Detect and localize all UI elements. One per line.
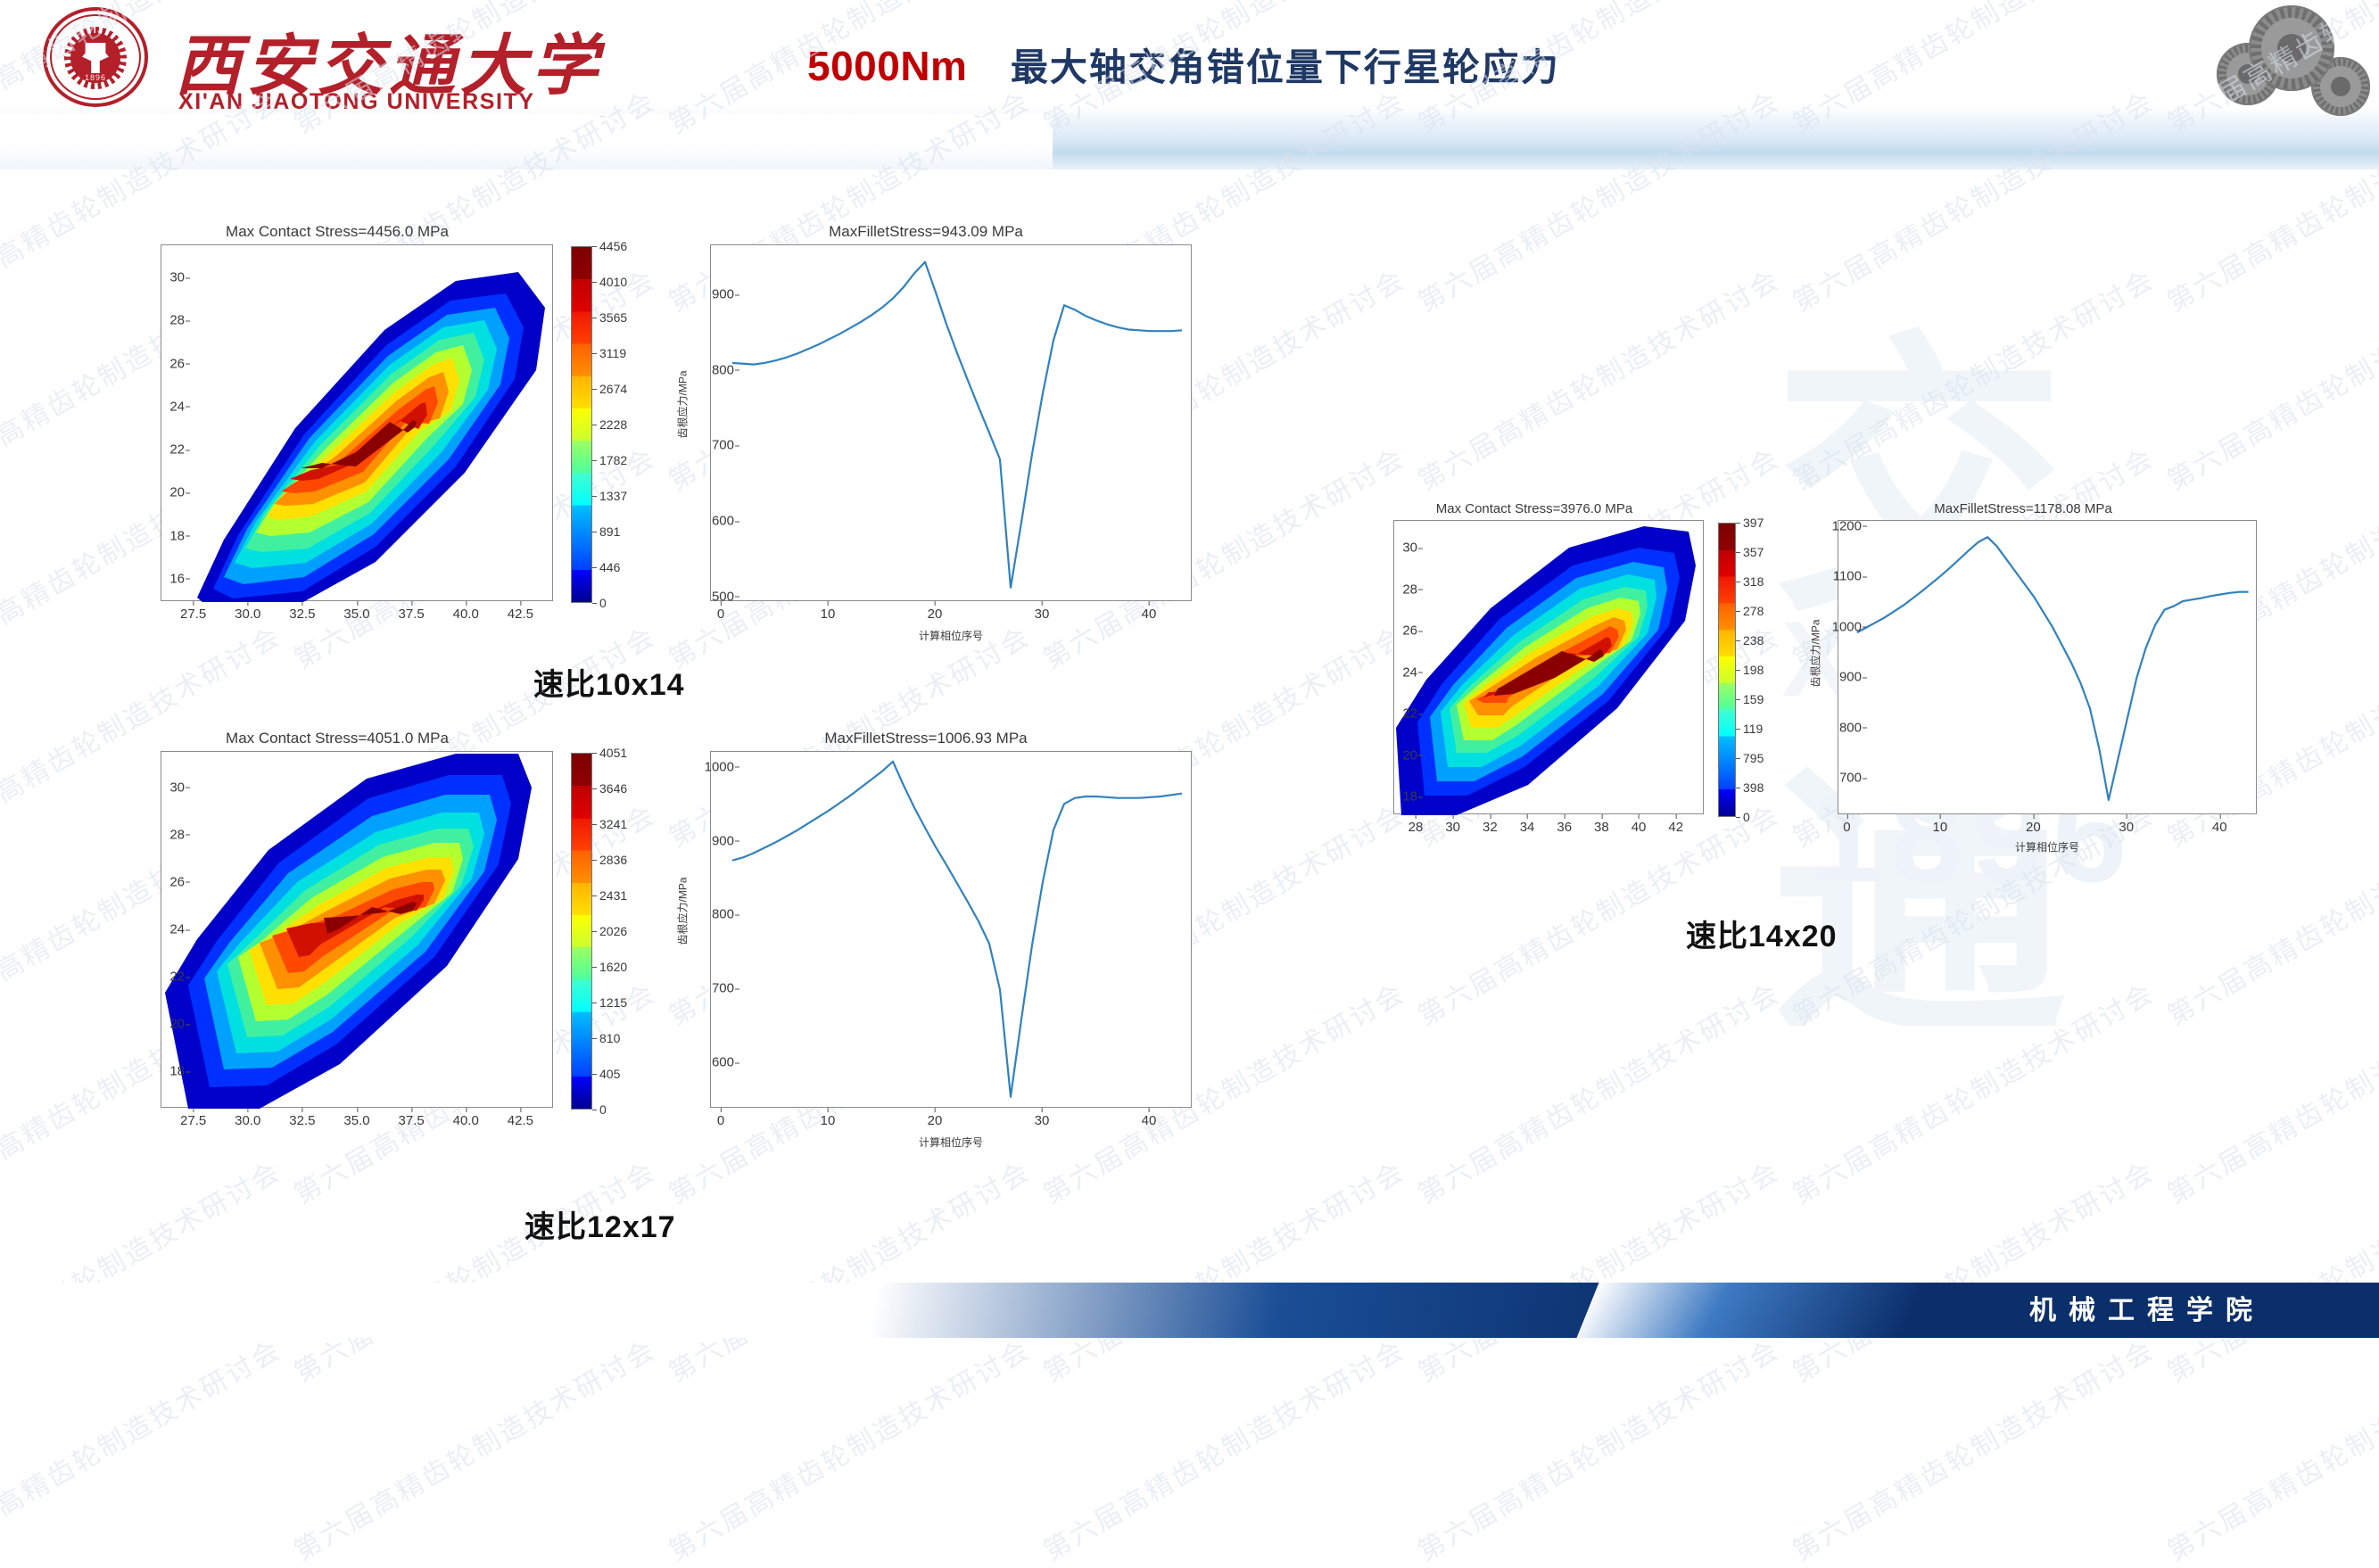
axis-tick-label: 42 bbox=[1668, 820, 1683, 835]
colorbar-tick-label: 238 bbox=[1743, 633, 1764, 648]
colorbar-tick-label: 2026 bbox=[599, 924, 627, 938]
watermark-text: 第六届高精齿轮制造技术研讨会 bbox=[2159, 258, 2379, 498]
contour-yticks-12x17: 18202224262830 bbox=[160, 752, 190, 1107]
axis-tick-label: 30 bbox=[1445, 820, 1460, 835]
axis-tick-label: 0 bbox=[717, 607, 724, 622]
colorbar-tick-label: 4456 bbox=[599, 239, 627, 253]
title-torque: 5000Nm bbox=[807, 43, 967, 89]
axis-tick-label: 30 bbox=[1035, 607, 1050, 622]
contour-colorbar-12x17: 405136463241283624312026162012158104050 bbox=[571, 753, 592, 1110]
colorbar-tick-label: 3565 bbox=[599, 310, 627, 325]
axis-tick-label: 37.5 bbox=[399, 607, 425, 622]
axis-tick-label: 40 bbox=[2212, 820, 2227, 835]
colorbar-tick-label: 1620 bbox=[599, 960, 627, 974]
fillet-ylabel-14x20: 齿根应力/MPa bbox=[1808, 600, 1823, 707]
axis-tick-label: 30 bbox=[169, 780, 185, 795]
colorbar-gradient-14x20 bbox=[1718, 523, 1736, 817]
axis-tick-label: 30.0 bbox=[235, 1113, 260, 1128]
fillet-xlabel-10x14: 计算相位序号 bbox=[710, 628, 1192, 643]
contour-yticks-10x14: 1618202224262830 bbox=[160, 245, 190, 600]
axis-tick-label: 700 bbox=[712, 438, 734, 453]
contour-plot-14x20: Max Contact Stress=3976.0 MPa bbox=[1347, 501, 1722, 838]
axis-tick-label: 10 bbox=[821, 607, 836, 622]
fillet-plot-12x17: MaxFilletStress=1006.93 MPa 600700800900… bbox=[640, 730, 1211, 1148]
watermark-text: 第六届高精齿轮制造技术研讨会 bbox=[1409, 258, 1786, 498]
fillet-axes-10x14: 500600700800900 齿根应力/MPa bbox=[710, 244, 1192, 601]
fillet-yticks-14x20: 700800900100011001200 bbox=[1837, 521, 1867, 813]
colorbar-tick-label: 357 bbox=[1743, 545, 1764, 559]
axis-tick-label: 20 bbox=[2026, 820, 2041, 835]
axis-tick-label: 900 bbox=[712, 287, 734, 302]
watermark-text: 第六届高精齿轮制造技术研讨会 bbox=[2159, 971, 2379, 1211]
colorbar-tick-label: 0 bbox=[1743, 810, 1750, 824]
axis-tick-label: 32.5 bbox=[289, 1113, 315, 1128]
colorbar-tick-label: 2228 bbox=[599, 417, 627, 432]
axis-tick-label: 18 bbox=[169, 528, 185, 543]
axis-tick-label: 800 bbox=[1839, 720, 1862, 735]
colorbar-tick-label: 397 bbox=[1743, 516, 1764, 530]
colorbar-gradient-12x17 bbox=[571, 753, 592, 1110]
axis-tick-label: 900 bbox=[1839, 670, 1862, 685]
colorbar-tick-label: 1782 bbox=[599, 453, 627, 467]
colorbar-tick-label: 446 bbox=[599, 560, 620, 574]
contour-yticks-14x20: 18202224262830 bbox=[1392, 521, 1423, 813]
colorbar-tick-label: 159 bbox=[1743, 692, 1764, 706]
slide-header: 1896 西安交通大学 XI'AN JIAOTONG UNIVERSITY 50… bbox=[0, 0, 2379, 169]
watermark-text: 第六届高精齿轮制造技术研讨会 bbox=[1409, 1328, 1786, 1568]
axis-tick-label: 0 bbox=[1843, 820, 1850, 835]
fillet-yticks-10x14: 500600700800900 bbox=[709, 245, 739, 600]
colorbar-tick-label: 119 bbox=[1743, 722, 1763, 736]
axis-tick-label: 42.5 bbox=[508, 1113, 533, 1128]
axis-tick-label: 24 bbox=[169, 399, 185, 414]
axis-tick-label: 28 bbox=[1408, 820, 1424, 835]
watermark-text: 第六届高精齿轮制造技术研讨会 bbox=[0, 1328, 287, 1568]
axis-tick-label: 1000 bbox=[1832, 619, 1862, 634]
colorbar-tick-label: 3241 bbox=[599, 817, 627, 831]
colorbar-tick-label: 4051 bbox=[599, 746, 627, 760]
caption-10x14: 速比10x14 bbox=[533, 660, 685, 704]
axis-tick-label: 36 bbox=[1557, 820, 1572, 835]
colorbar-tick-label: 891 bbox=[599, 524, 620, 539]
footer-label: 机械工程学院 bbox=[2029, 1288, 2265, 1327]
axis-tick-label: 27.5 bbox=[180, 607, 206, 622]
fillet-yticks-12x17: 6007008009001000 bbox=[709, 752, 739, 1107]
watermark-text: 第六届高精齿轮制造技术研讨会 bbox=[1409, 971, 1786, 1211]
contour-plot-10x14: Max Contact Stress=4456.0 MPa bbox=[105, 223, 569, 626]
seal-year: 1896 bbox=[43, 73, 148, 82]
axis-tick-label: 35.0 bbox=[343, 607, 369, 622]
university-name-en: XI'AN JIAOTONG UNIVERSITY bbox=[178, 89, 535, 115]
contour-axes-10x14: 1618202224262830 bbox=[161, 244, 553, 601]
fillet-axes-14x20: 700800900100011001200 齿根应力/MPa bbox=[1838, 520, 2257, 814]
axis-tick-label: 26 bbox=[169, 356, 185, 371]
series-line bbox=[732, 762, 1182, 1097]
footer-bar bbox=[0, 1283, 2379, 1338]
axis-tick-label: 800 bbox=[712, 362, 734, 377]
footer-slash-accent bbox=[1576, 1283, 1920, 1338]
colorbar-tick-label: 4010 bbox=[599, 275, 627, 289]
watermark-text: 第六届高精齿轮制造技术研讨会 bbox=[2159, 1328, 2379, 1568]
colorbar-tick-label: 278 bbox=[1743, 604, 1764, 618]
axis-tick-label: 700 bbox=[1839, 771, 1862, 786]
contour-axes-12x17: 18202224262830 bbox=[161, 751, 553, 1108]
header-band bbox=[0, 114, 2379, 169]
axis-tick-label: 1100 bbox=[1833, 569, 1862, 584]
fillet-line-12x17 bbox=[711, 752, 1193, 1109]
axis-tick-label: 18 bbox=[169, 1064, 185, 1079]
axis-tick-label: 32.5 bbox=[289, 607, 315, 622]
colorbar-tick-label: 198 bbox=[1743, 663, 1764, 677]
axis-tick-label: 40 bbox=[1142, 607, 1157, 622]
contour-title-12x17: Max Contact Stress=4051.0 MPa bbox=[105, 730, 569, 747]
fillet-line-10x14 bbox=[711, 245, 1193, 602]
axis-tick-label: 32 bbox=[1483, 820, 1498, 835]
colorbar-tick-label: 405 bbox=[599, 1067, 620, 1081]
colorbar-tick-label: 0 bbox=[599, 1102, 607, 1117]
fillet-xlabel-14x20: 计算相位序号 bbox=[1838, 839, 2257, 854]
watermark-text: 第六届高精齿轮制造技术研讨会 bbox=[1035, 1328, 1411, 1568]
fillet-xlabel-12x17: 计算相位序号 bbox=[710, 1135, 1192, 1150]
axis-tick-label: 26 bbox=[1402, 623, 1417, 639]
axis-tick-label: 20 bbox=[169, 485, 185, 500]
fillet-plot-10x14: MaxFilletStress=943.09 MPa 5006007008009… bbox=[640, 223, 1211, 641]
axis-tick-label: 30 bbox=[1035, 1113, 1050, 1128]
fillet-ylabel-10x14: 齿根应力/MPa bbox=[675, 351, 690, 458]
axis-tick-label: 27.5 bbox=[180, 1113, 206, 1128]
axis-tick-label: 40.0 bbox=[453, 607, 479, 622]
axis-tick-label: 28 bbox=[169, 313, 185, 328]
axis-tick-label: 22 bbox=[169, 970, 185, 985]
axis-tick-label: 40.0 bbox=[453, 1113, 479, 1128]
axis-tick-label: 10 bbox=[1933, 820, 1948, 835]
axis-tick-label: 700 bbox=[712, 981, 734, 996]
colorbar-tick-label: 3646 bbox=[599, 781, 627, 796]
fillet-line-14x20 bbox=[1838, 521, 2258, 815]
axis-tick-label: 18 bbox=[1402, 789, 1417, 805]
axis-tick-label: 16 bbox=[169, 571, 185, 586]
axis-tick-label: 42.5 bbox=[508, 607, 533, 622]
axis-tick-label: 24 bbox=[1402, 664, 1417, 680]
contour-title-10x14: Max Contact Stress=4456.0 MPa bbox=[105, 223, 569, 241]
colorbar-tick-label: 810 bbox=[599, 1031, 620, 1045]
watermark-text: 第六届高精齿轮制造技术研讨会 bbox=[285, 1328, 662, 1568]
axis-tick-label: 34 bbox=[1520, 820, 1535, 835]
colorbar-tick-label: 0 bbox=[599, 596, 607, 610]
axis-tick-label: 35.0 bbox=[343, 1113, 369, 1128]
colorbar-tick-label: 318 bbox=[1743, 574, 1764, 589]
axis-tick-label: 600 bbox=[712, 1055, 734, 1070]
axis-tick-label: 1200 bbox=[1832, 518, 1862, 533]
contour-colorbar-10x14: 445640103565311926742228178213378914460 bbox=[571, 246, 592, 603]
colorbar-tick-label: 3119 bbox=[599, 346, 626, 360]
series-line bbox=[732, 262, 1182, 588]
title-main: 最大轴交角错位量下行星轮应力 bbox=[1011, 46, 1560, 88]
axis-tick-label: 30 bbox=[1402, 541, 1417, 556]
axis-tick-label: 30 bbox=[2119, 820, 2134, 835]
axis-tick-label: 37.5 bbox=[399, 1113, 425, 1128]
colorbar-tick-label: 2674 bbox=[599, 382, 627, 396]
series-line bbox=[1857, 537, 2249, 800]
axis-tick-label: 22 bbox=[169, 442, 185, 458]
axis-tick-label: 600 bbox=[712, 514, 734, 529]
axis-tick-label: 22 bbox=[1402, 706, 1417, 722]
axis-tick-label: 20 bbox=[169, 1017, 185, 1032]
axis-tick-label: 38 bbox=[1594, 820, 1609, 835]
colorbar-tick-label: 1337 bbox=[599, 489, 627, 503]
contour-xticks-10x14: 27.530.032.535.037.540.042.5 bbox=[161, 601, 553, 626]
axis-tick-label: 800 bbox=[712, 907, 734, 922]
contour-title-14x20: Max Contact Stress=3976.0 MPa bbox=[1347, 501, 1722, 516]
axis-tick-label: 1000 bbox=[705, 759, 734, 774]
contour-colorbar-14x20: 3973573182782381981591197953980 bbox=[1718, 523, 1736, 817]
slide-title: 5000Nm 最大轴交角错位量下行星轮应力 bbox=[807, 37, 1560, 92]
fillet-title-14x20: MaxFilletStress=1178.08 MPa bbox=[1773, 501, 2273, 516]
caption-12x17: 速比12x17 bbox=[525, 1202, 676, 1246]
fillet-ylabel-12x17: 齿根应力/MPa bbox=[675, 858, 690, 965]
colorbar-tick-label: 795 bbox=[1743, 751, 1764, 765]
axis-tick-label: 20 bbox=[928, 607, 943, 622]
axis-tick-label: 30 bbox=[169, 270, 185, 285]
axis-tick-label: 20 bbox=[1402, 747, 1417, 763]
axis-tick-label: 24 bbox=[169, 922, 185, 937]
watermark-text: 第六届高精齿轮制造技术研讨会 bbox=[660, 1328, 1037, 1568]
contour-xticks-12x17: 27.530.032.535.037.540.042.5 bbox=[161, 1108, 553, 1133]
contour-xticks-14x20: 2830323436384042 bbox=[1393, 814, 1704, 838]
caption-14x20: 速比14x20 bbox=[1686, 912, 1838, 955]
axis-tick-label: 30.0 bbox=[235, 607, 260, 622]
axis-tick-label: 26 bbox=[169, 874, 185, 889]
fillet-axes-12x17: 6007008009001000 齿根应力/MPa bbox=[710, 751, 1192, 1108]
fillet-plot-14x20: MaxFilletStress=1178.08 MPa 700800900100… bbox=[1773, 501, 2273, 853]
axis-tick-label: 28 bbox=[1402, 582, 1417, 597]
fillet-xticks-14x20: 010203040 bbox=[1838, 814, 2257, 838]
colorbar-gradient-10x14 bbox=[571, 246, 592, 603]
axis-tick-label: 0 bbox=[717, 1113, 724, 1128]
fillet-title-10x14: MaxFilletStress=943.09 MPa bbox=[640, 223, 1211, 241]
gears-decoration-icon bbox=[2222, 2, 2374, 111]
axis-tick-label: 10 bbox=[821, 1113, 836, 1128]
axis-tick-label: 28 bbox=[169, 827, 185, 842]
axis-tick-label: 40 bbox=[1142, 1113, 1157, 1128]
contour-field-12x17 bbox=[161, 752, 554, 1109]
colorbar-tick-label: 2836 bbox=[599, 853, 627, 867]
colorbar-tick-label: 1215 bbox=[599, 995, 627, 1010]
fillet-title-12x17: MaxFilletStress=1006.93 MPa bbox=[640, 730, 1211, 747]
contour-field-14x20 bbox=[1394, 521, 1705, 815]
colorbar-tick-label: 398 bbox=[1743, 780, 1764, 795]
watermark-text: 第六届高精齿轮制造技术研讨会 bbox=[1784, 258, 2160, 498]
watermark-text: 第六届高精齿轮制造技术研讨会 bbox=[1784, 1328, 2160, 1568]
contour-plot-12x17: Max Contact Stress=4051.0 MPa bbox=[105, 730, 569, 1133]
slide-footer: 机械工程学院 bbox=[0, 1256, 2379, 1338]
axis-tick-label: 900 bbox=[712, 833, 734, 848]
fillet-xticks-12x17: 010203040 bbox=[710, 1108, 1192, 1133]
colorbar-tick-label: 2431 bbox=[599, 888, 627, 903]
axis-tick-label: 20 bbox=[928, 1113, 943, 1128]
university-seal-icon: 1896 bbox=[43, 7, 148, 107]
contour-axes-14x20: 18202224262830 bbox=[1393, 520, 1704, 814]
contour-field-10x14 bbox=[161, 245, 554, 602]
watermark-text: 第六届高精齿轮制造技术研讨会 bbox=[1784, 971, 2160, 1211]
fillet-xticks-10x14: 010203040 bbox=[710, 601, 1192, 626]
axis-tick-label: 40 bbox=[1631, 820, 1647, 835]
